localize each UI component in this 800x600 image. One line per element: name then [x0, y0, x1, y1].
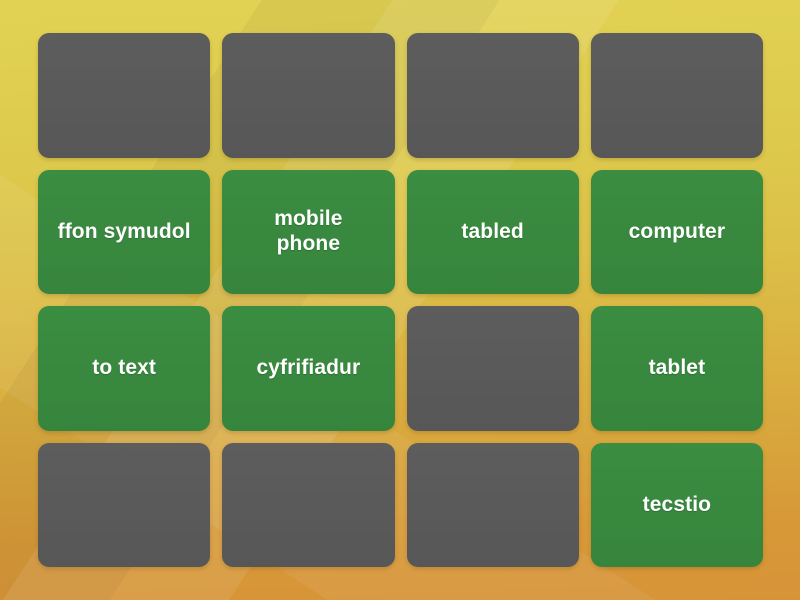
empty-card[interactable] — [38, 33, 210, 158]
empty-card[interactable] — [407, 443, 579, 568]
word-card[interactable]: computer — [591, 170, 763, 295]
card-label: ffon symudol — [58, 220, 191, 244]
word-card[interactable]: cyfrifiadur — [222, 306, 394, 431]
word-card[interactable]: mobile phone — [222, 170, 394, 295]
card-label: tablet — [649, 356, 706, 380]
word-card[interactable]: tecstio — [591, 443, 763, 568]
word-card[interactable]: ffon symudol — [38, 170, 210, 295]
card-label: tabled — [461, 220, 523, 244]
empty-card[interactable] — [222, 443, 394, 568]
empty-card[interactable] — [591, 33, 763, 158]
card-label: to text — [92, 356, 156, 380]
card-grid: ffon symudolmobile phonetabledcomputerto… — [38, 33, 763, 567]
empty-card[interactable] — [222, 33, 394, 158]
card-label: computer — [629, 220, 725, 244]
empty-card[interactable] — [38, 443, 210, 568]
card-label: tecstio — [643, 493, 711, 517]
card-label: cyfrifiadur — [256, 356, 360, 380]
word-card[interactable]: tabled — [407, 170, 579, 295]
empty-card[interactable] — [407, 306, 579, 431]
card-label: mobile phone — [274, 207, 342, 256]
empty-card[interactable] — [407, 33, 579, 158]
word-card[interactable]: to text — [38, 306, 210, 431]
word-card[interactable]: tablet — [591, 306, 763, 431]
